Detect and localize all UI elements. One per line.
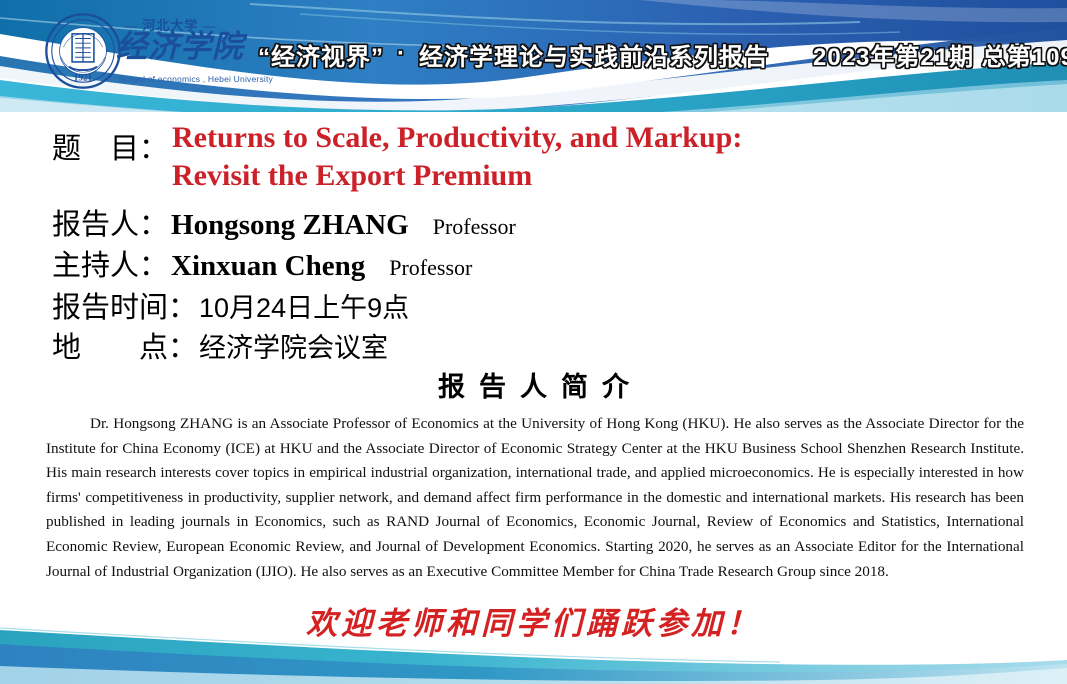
host-row: 主持人： Xinxuan Cheng Professor bbox=[52, 242, 472, 284]
series-quoted-title: “经济视界” bbox=[258, 37, 384, 72]
header-title-row: “经济视界” · 经济学理论与实践前沿系列报告 2023年第21期 总第109期 bbox=[258, 33, 1058, 75]
place-label: 地 点： bbox=[52, 324, 197, 366]
logo-wordmark: — 河北大学 — 经济学院 School of economics , Hebe… bbox=[116, 12, 276, 100]
place-row: 地 点： 经济学院会议室 bbox=[52, 324, 388, 366]
seal-year-text: 1921 bbox=[74, 74, 93, 84]
series-full-name: 经济学理论与实践前沿系列报告 bbox=[419, 37, 769, 72]
university-seal-icon: 1921 bbox=[44, 12, 122, 90]
speaker-row: 报告人： Hongsong ZHANG Professor bbox=[52, 201, 516, 243]
footer-wave-decoration bbox=[0, 614, 1067, 684]
time-row: 报告时间： 10月24日上午9点 bbox=[52, 284, 409, 326]
paper-title-line-2: Revisit the Export Premium bbox=[172, 157, 742, 195]
place-value: 经济学院会议室 bbox=[199, 326, 388, 365]
time-label: 报告时间： bbox=[52, 284, 197, 326]
paper-title-line-1: Returns to Scale, Productivity, and Mark… bbox=[172, 119, 742, 157]
speaker-name: Hongsong ZHANG bbox=[171, 209, 409, 242]
time-value: 10月24日上午9点 bbox=[199, 286, 409, 325]
host-name: Xinxuan Cheng bbox=[171, 250, 365, 283]
title-row: 题 目： Returns to Scale, Productivity, and… bbox=[52, 119, 742, 195]
bio-section-heading: 报告人简介 bbox=[0, 365, 1067, 404]
host-label: 主持人： bbox=[52, 242, 168, 284]
speaker-rank: Professor bbox=[433, 214, 516, 240]
host-rank: Professor bbox=[389, 255, 472, 281]
issue-number: 2023年第21期 总第109期 bbox=[813, 37, 1067, 72]
logo-school-name: 经济学院 bbox=[116, 29, 244, 65]
header-banner: 1921 — 河北大学 — 经济学院 School of economics ,… bbox=[0, 0, 1067, 112]
seminar-poster: 1921 — 河北大学 — 经济学院 School of economics ,… bbox=[0, 0, 1067, 684]
speaker-bio-paragraph: Dr. Hongsong ZHANG is an Associate Profe… bbox=[46, 412, 1024, 584]
title-label: 题 目： bbox=[52, 119, 168, 167]
title-text-wrapper: Returns to Scale, Productivity, and Mark… bbox=[168, 119, 742, 195]
logo-school-english: School of economics , Hebei University bbox=[118, 74, 273, 84]
hebei-university-logo: 1921 — 河北大学 — 经济学院 School of economics ,… bbox=[44, 12, 264, 100]
speaker-label: 报告人： bbox=[52, 201, 168, 243]
header-separator-dot: · bbox=[397, 40, 406, 68]
